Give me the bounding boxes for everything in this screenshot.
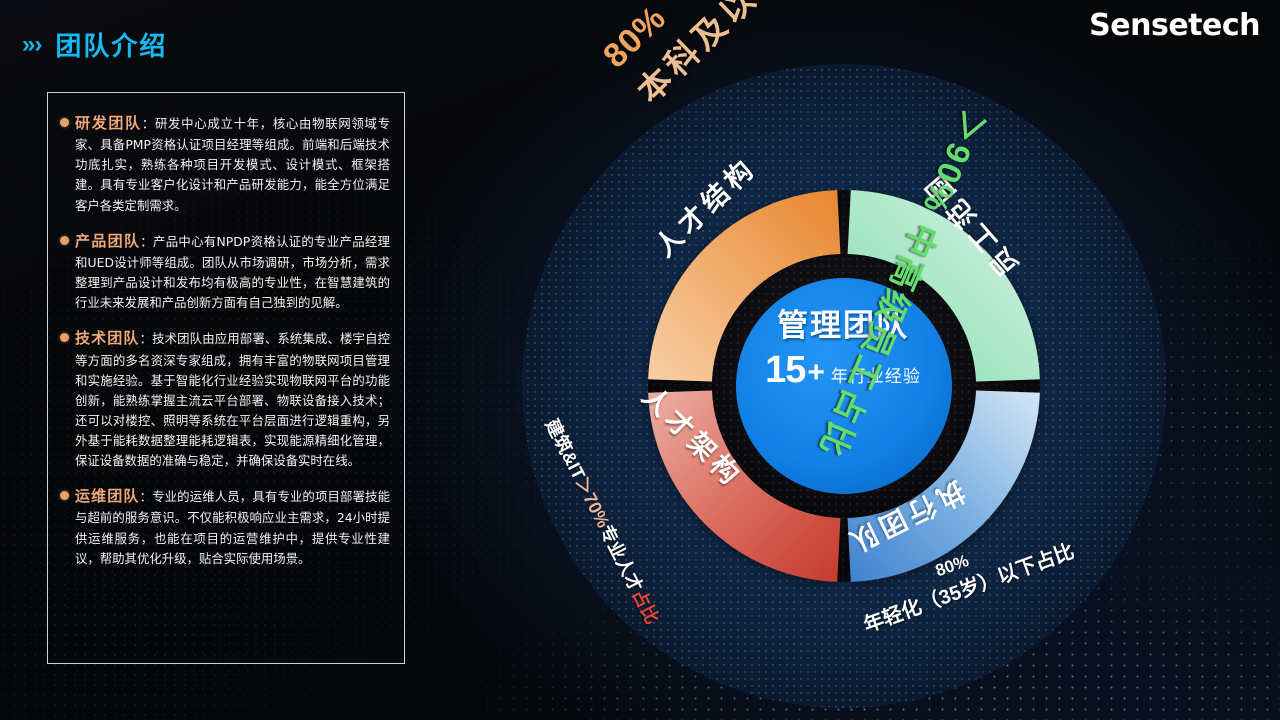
list-item: 产品团队：产品中心有NPDP资格认证的专业产品经理和UED设计师等组成。团队从市… xyxy=(58,229,390,314)
bullet-icon xyxy=(60,118,69,127)
team-structure-donut-chart xyxy=(520,62,1168,710)
paragraph-lead: 研发团队 xyxy=(75,114,142,132)
paragraph-separator: ： xyxy=(140,489,153,504)
paragraph-body: 技术团队由应用部署、系统集成、楼宇自控等方面的多名资深专家组成，拥有丰富的物联网… xyxy=(75,331,390,468)
paragraph-text: 运维团队：专业的运维人员，具有专业的项目部署技能与超前的服务意识。不仅能积极响应… xyxy=(75,484,390,569)
donut-core-circle xyxy=(736,278,952,494)
paragraph-text: 研发团队：研发中心成立十年，核心由物联网领域专家、具备PMP资格认证项目经理等组… xyxy=(75,111,390,216)
page-title: »› 团队介绍 xyxy=(22,26,167,63)
paragraph-separator: ： xyxy=(140,234,153,249)
paragraph-text: 产品团队：产品中心有NPDP资格认证的专业产品经理和UED设计师等组成。团队从市… xyxy=(75,229,390,314)
slide-canvas: »› 团队介绍 Sensetech 研发团队：研发中心成立十年，核心由物联网领域… xyxy=(0,0,1280,720)
paragraph-lead: 产品团队 xyxy=(75,232,140,250)
paragraph-text: 技术团队：技术团队由应用部署、系统集成、楼宇自控等方面的多名资深专家组成，拥有丰… xyxy=(75,326,390,471)
paragraph-lead: 技术团队 xyxy=(75,329,140,347)
bullet-icon xyxy=(60,491,69,500)
paragraph-lead: 运维团队 xyxy=(75,487,140,505)
list-item: 运维团队：专业的运维人员，具有专业的项目部署技能与超前的服务意识。不仅能积极响应… xyxy=(58,484,390,569)
bullet-icon xyxy=(60,333,69,342)
list-item: 技术团队：技术团队由应用部署、系统集成、楼宇自控等方面的多名资深专家组成，拥有丰… xyxy=(58,326,390,471)
list-item: 研发团队：研发中心成立十年，核心由物联网领域专家、具备PMP资格认证项目经理等组… xyxy=(58,111,390,216)
paragraph-separator: ： xyxy=(142,116,155,131)
donut-svg xyxy=(520,62,1168,710)
page-title-text: 团队介绍 xyxy=(55,26,167,63)
brand-logo: Sensetech xyxy=(1089,8,1260,43)
triple-chevron-right-icon: »› xyxy=(22,33,41,57)
bullet-icon xyxy=(60,236,69,245)
team-description-panel: 研发团队：研发中心成立十年，核心由物联网领域专家、具备PMP资格认证项目经理等组… xyxy=(47,92,405,664)
paragraph-separator: ： xyxy=(140,331,153,346)
